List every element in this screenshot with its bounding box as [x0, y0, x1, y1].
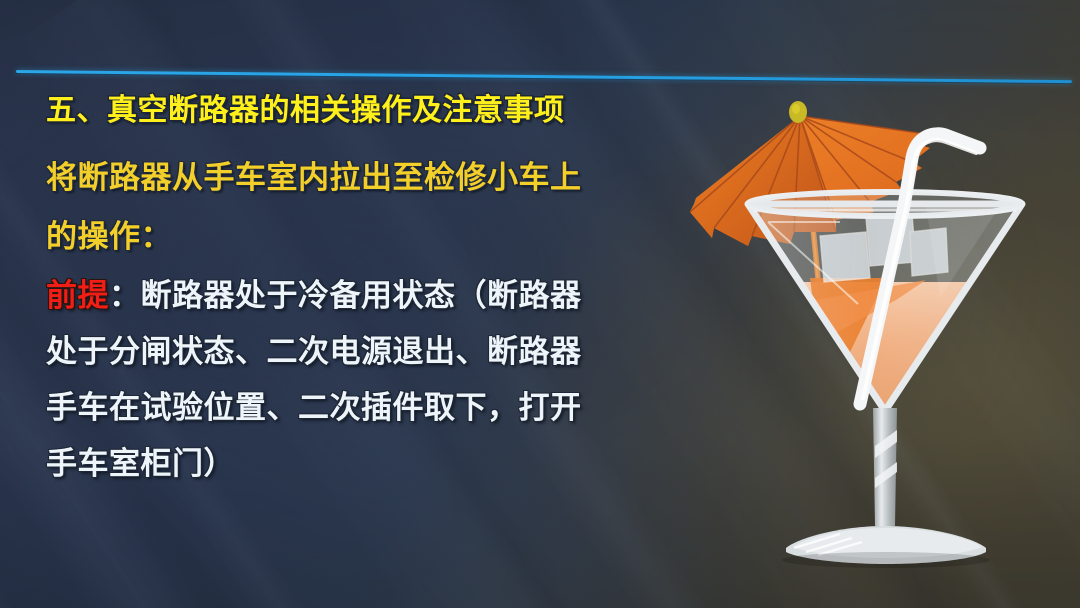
- subheading-line-1: 将断路器从手车室内拉出至检修小车上: [46, 162, 706, 193]
- body-line-1: 前提：断路器处于冷备用状态（断路器: [46, 280, 706, 311]
- cocktail-illustration: [690, 86, 1080, 608]
- body-line-2: 处于分闸状态、二次电源退出、断路器: [46, 336, 706, 367]
- body-line-3: 手车在试验位置、二次插件取下，打开: [46, 392, 706, 423]
- glass-stem-and-base: [782, 408, 990, 568]
- body-line-1-text: ：断路器处于冷备用状态（断路器: [109, 278, 582, 313]
- subheading-line-2: 的操作：: [46, 221, 706, 252]
- page-title: 五、真空断路器的相关操作及注意事项: [46, 96, 706, 126]
- slide-text-block: 五、真空断路器的相关操作及注意事项 将断路器从手车室内拉出至检修小车上 的操作：…: [46, 96, 706, 504]
- prerequisite-label: 前提: [46, 278, 109, 313]
- body-line-4: 手车室柜门）: [46, 448, 706, 479]
- slide-canvas: 五、真空断路器的相关操作及注意事项 将断路器从手车室内拉出至检修小车上 的操作：…: [0, 0, 1080, 608]
